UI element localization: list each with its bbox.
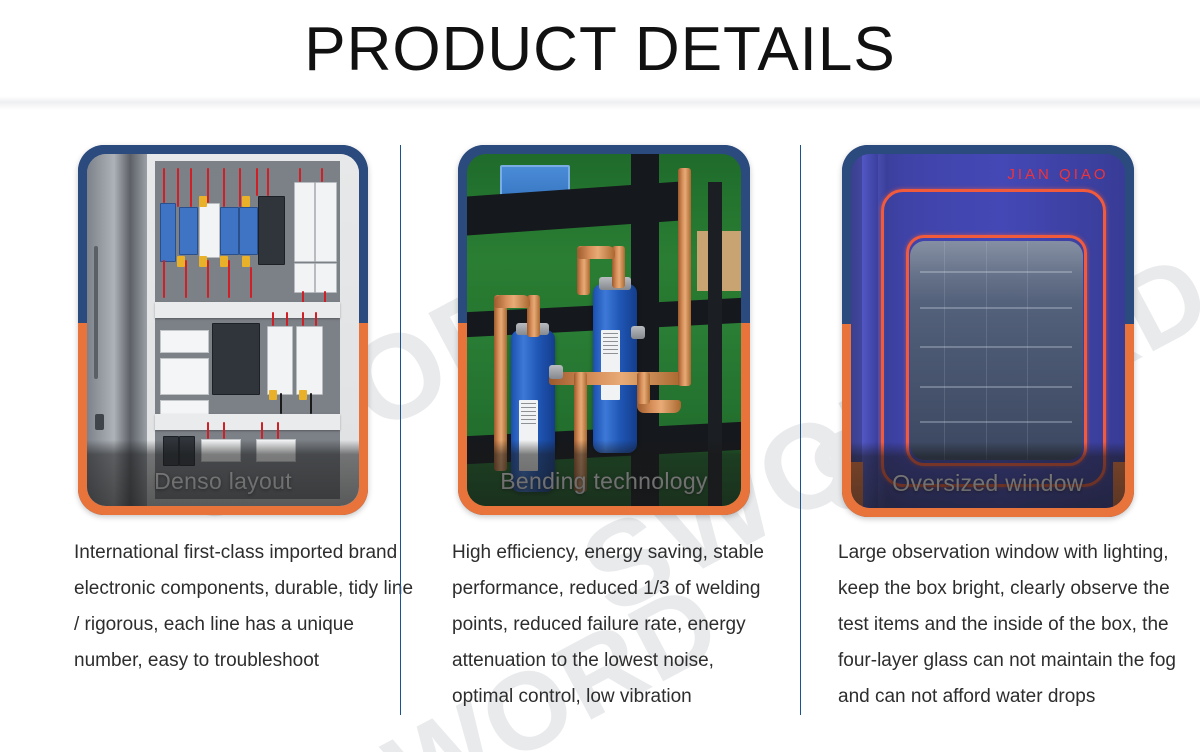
wire [207, 260, 209, 299]
din-rail [155, 302, 340, 318]
relay-module [239, 207, 257, 255]
chamber-brand-label: JIAN QIAO [1007, 166, 1108, 183]
glass-reflection-line [920, 307, 1072, 309]
glass-reflection-line [920, 421, 1072, 423]
wire [272, 312, 274, 326]
relay-module [220, 207, 238, 255]
timer-relay [199, 203, 220, 258]
contactor [315, 182, 336, 261]
wire [163, 260, 165, 299]
page-header: PRODUCT DETAILS [0, 0, 1200, 104]
wire [185, 260, 187, 299]
wire [223, 422, 225, 440]
feature-column-oversized-window: JIAN QIAO [800, 130, 1200, 752]
solid-state-relay [267, 326, 293, 395]
feature-description: High efficiency, energy saving, stable p… [452, 535, 774, 715]
observation-glass [910, 241, 1083, 461]
power-supply-unit [212, 323, 260, 395]
feature-description: International first-class imported brand… [74, 535, 414, 679]
wire [261, 422, 263, 440]
wire [207, 422, 209, 440]
caption-overlay [467, 440, 741, 506]
terminal [242, 256, 250, 267]
wire [302, 312, 304, 326]
column-divider [800, 145, 801, 715]
wire [280, 393, 282, 414]
feature-column-denso-layout: Denso layout International first-class i… [0, 130, 400, 752]
glass-sheen [910, 241, 1083, 302]
door-glass-strip [94, 246, 98, 380]
copper-bend [494, 295, 530, 308]
aux-contact-block [294, 263, 315, 293]
terminal [199, 196, 207, 207]
glass-reflection-line [920, 346, 1072, 348]
photo-electrical-cabinet: Denso layout [87, 154, 359, 506]
feature-card-frame[interactable]: Denso layout [78, 145, 368, 515]
caption-overlay [851, 442, 1125, 508]
terminal [199, 256, 207, 267]
wire [207, 168, 209, 203]
contactor [294, 182, 315, 261]
terminal [299, 390, 307, 401]
wire [310, 393, 312, 414]
wire [223, 168, 225, 207]
terminal [177, 256, 185, 267]
pipe-coupling [631, 326, 645, 338]
copper-bend [577, 246, 615, 259]
terminal [220, 256, 228, 267]
wire [321, 168, 323, 182]
terminal-block [160, 330, 208, 353]
feature-description: Large observation window with lighting, … [838, 535, 1188, 715]
aux-contact-block [315, 263, 336, 293]
circuit-breaker [160, 203, 176, 261]
door-latch-icon [95, 414, 104, 430]
feature-card-frame[interactable]: Bending technology [458, 145, 750, 515]
din-rail [155, 414, 340, 430]
page-title: PRODUCT DETAILS [0, 8, 1200, 92]
contactor [258, 196, 284, 265]
wire [286, 312, 288, 326]
copper-pipe [549, 372, 681, 385]
wire [299, 168, 301, 182]
pipe-coupling [549, 365, 563, 379]
column-divider [400, 145, 401, 715]
feature-card-frame[interactable]: JIAN QIAO [842, 145, 1134, 517]
info-plate [160, 358, 208, 395]
feature-column-bending-technology: Bending technology High efficiency, ener… [400, 130, 800, 752]
tank-label [601, 330, 620, 400]
wire [177, 168, 179, 207]
solid-state-relay [296, 326, 322, 395]
copper-pipe [678, 168, 691, 386]
terminal [242, 196, 250, 207]
caption-overlay [87, 440, 359, 506]
wire [239, 168, 241, 207]
wire [163, 168, 165, 203]
wire [256, 168, 258, 196]
terminal [269, 390, 277, 401]
copper-pipe [637, 372, 650, 404]
glass-reflection-line [920, 386, 1072, 388]
wire [250, 267, 252, 299]
photo-copper-pipes: Bending technology [467, 154, 741, 506]
photo-test-chamber-window: JIAN QIAO [851, 154, 1125, 508]
product-details-page: SWORD SWORD SWORD SWORD PRODUCT DETAILS [0, 0, 1200, 752]
feature-columns: Denso layout International first-class i… [0, 130, 1200, 752]
wire [267, 168, 269, 196]
relay-module [179, 207, 197, 255]
